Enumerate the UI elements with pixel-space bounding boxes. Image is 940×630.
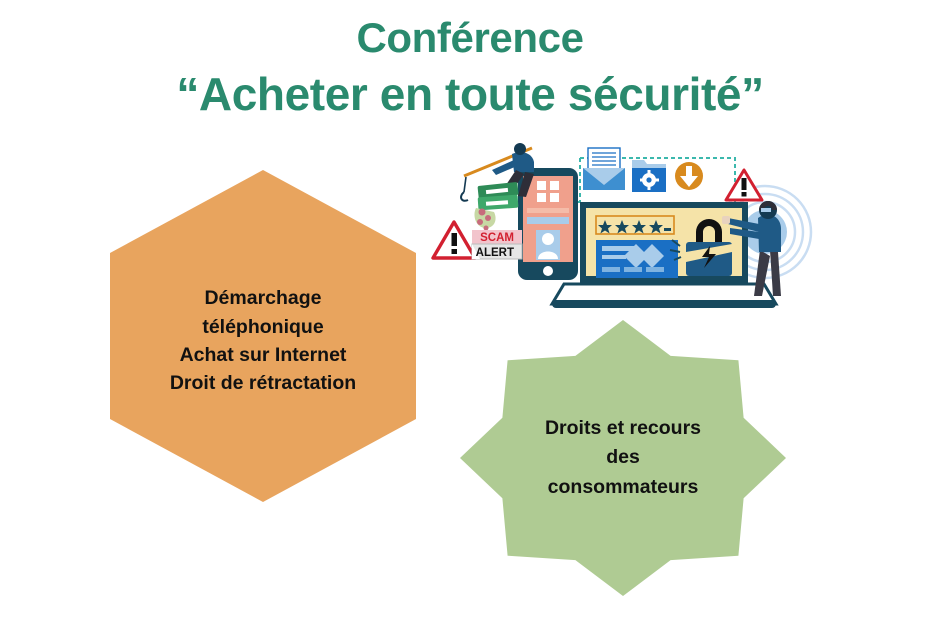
octagram-topic-card: Droits et recours des consommateurs <box>460 320 786 596</box>
octagram-line-3: consommateurs <box>548 473 699 502</box>
scam-alert-sign: SCAM ALERT <box>433 222 522 259</box>
folder-gear-icon <box>632 160 666 192</box>
online-shopping-security-illustration: SCAM ALERT <box>428 140 818 312</box>
hexagon-line-1: Démarchage <box>204 284 321 312</box>
slide-canvas: Conférence “Acheter en toute sécurité” D… <box>0 0 940 630</box>
octagram-line-1: Droits et recours <box>545 414 701 443</box>
credit-card <box>596 240 678 278</box>
hexagon-topic-card: Démarchage téléphonique Achat sur Intern… <box>110 170 416 502</box>
octagram-text-block: Droits et recours des consommateurs <box>460 320 786 596</box>
hexagon-text-block: Démarchage téléphonique Achat sur Intern… <box>110 170 416 502</box>
title-line-conference: Conférence <box>0 14 940 61</box>
octagram-line-2: des <box>606 443 640 472</box>
title-line-quote: “Acheter en toute sécurité” <box>0 69 940 121</box>
hexagon-line-4: Droit de rétractation <box>170 369 356 397</box>
hexagon-line-3: Achat sur Internet <box>180 341 347 369</box>
download-arrow-icon <box>675 162 703 190</box>
scam-label: SCAM <box>480 232 514 244</box>
hexagon-line-2: téléphonique <box>202 313 323 341</box>
fished-money-cards <box>474 182 518 231</box>
laptop-warning-triangle-icon <box>726 170 762 200</box>
email-envelope-icon <box>583 148 625 190</box>
alert-label: ALERT <box>476 247 514 259</box>
page-title: Conférence “Acheter en toute sécurité” <box>0 14 940 121</box>
